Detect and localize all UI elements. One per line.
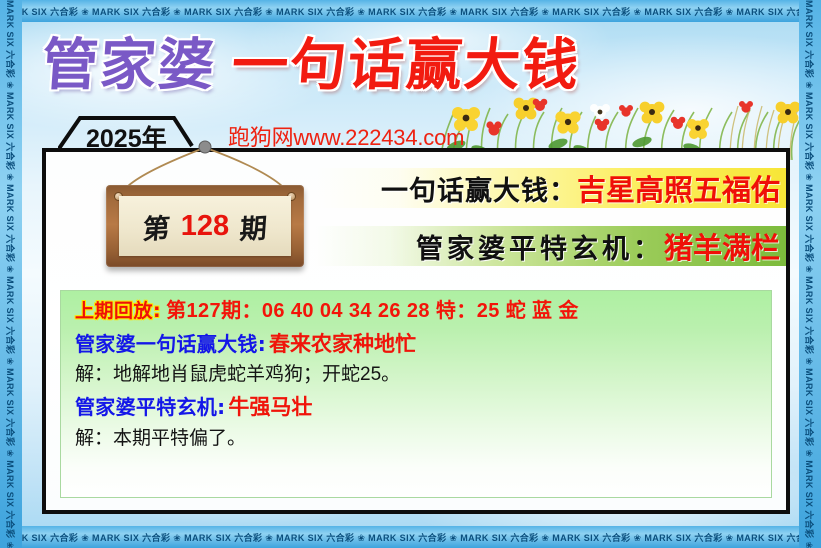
- title-main-text: 管家婆: [40, 38, 218, 94]
- content-line-replay: 上期回放:第127期：06 40 04 34 26 28 特：25 蛇 蓝 金: [75, 300, 757, 324]
- content-label-yizhuhua: 管家婆一句话赢大钱:: [75, 332, 266, 356]
- border-strip-left: MARK SIX 六合彩 ❀ MARK SIX 六合彩 ❀ MARK SIX 六…: [0, 0, 22, 548]
- border-strip-top: MARK SIX 六合彩 ❀ MARK SIX 六合彩 ❀ MARK SIX 六…: [0, 0, 821, 22]
- content-plain-jie-1: 解：地解地肖鼠虎蛇羊鸡狗；开蛇25。: [75, 364, 400, 385]
- border-pattern-text-left: MARK SIX 六合彩 ❀ MARK SIX 六合彩 ❀ MARK SIX 六…: [5, 0, 18, 548]
- headline-panel-pingte: 管家婆平特玄机： 猪羊满栏: [314, 226, 786, 266]
- headline-label-yizhuhua: 一句话赢大钱：: [381, 169, 577, 208]
- content-box: 上期回放:第127期：06 40 04 34 26 28 特：25 蛇 蓝 金 …: [60, 290, 772, 498]
- border-strip-right: MARK SIX 六合彩 ❀ MARK SIX 六合彩 ❀ MARK SIX 六…: [799, 0, 821, 548]
- content-plain-jie-2: 解：本期平特偏了。: [75, 428, 246, 449]
- content-value-yizhuhua: 春来农家种地忙: [269, 332, 416, 356]
- sign-paper: 第 128 期: [119, 196, 291, 256]
- headline-value-pingte: 猪羊满栏: [664, 225, 780, 267]
- issue-prefix: 第: [141, 206, 171, 246]
- sign-board: 第 128 期: [106, 185, 304, 267]
- content-line-yizhuhua: 管家婆一句话赢大钱:春来农家种地忙: [75, 332, 757, 357]
- headline-label-pingte: 管家婆平特玄机：: [416, 227, 664, 266]
- border-pattern-text-top: MARK SIX 六合彩 ❀ MARK SIX 六合彩 ❀ MARK SIX 六…: [0, 5, 821, 18]
- content-value-pingte: 牛强马壮: [228, 395, 312, 419]
- content-line-pingte: 管家婆平特玄机:牛强马壮: [75, 395, 757, 420]
- content-label-pingte: 管家婆平特玄机:: [75, 395, 225, 419]
- headline-panel-yizhuhua: 一句话赢大钱： 吉星高照五福佑: [314, 168, 786, 208]
- title-sub-text: 一句话赢大钱: [230, 38, 582, 94]
- border-pattern-text-right: MARK SIX 六合彩 ❀ MARK SIX 六合彩 ❀ MARK SIX 六…: [804, 0, 817, 548]
- replay-text: 第127期：06 40 04 34 26 28 特：25 蛇 蓝 金: [166, 300, 579, 322]
- content-line-jie-1: 解：地解地肖鼠虎蛇羊鸡狗；开蛇25。: [75, 364, 757, 386]
- border-pattern-text-bottom: MARK SIX 六合彩 ❀ MARK SIX 六合彩 ❀ MARK SIX 六…: [0, 531, 821, 544]
- headline-value-yizhuhua: 吉星高照五福佑: [577, 167, 780, 209]
- replay-label: 上期回放:: [75, 300, 161, 322]
- page-title: 管家婆 一句话赢大钱: [42, 26, 682, 106]
- issue-number: 128: [181, 210, 229, 243]
- issue-sign: 第 128 期: [66, 140, 316, 300]
- border-strip-bottom: MARK SIX 六合彩 ❀ MARK SIX 六合彩 ❀ MARK SIX 六…: [0, 526, 821, 548]
- issue-suffix: 期: [239, 206, 269, 246]
- content-line-jie-2: 解：本期平特偏了。: [75, 428, 757, 450]
